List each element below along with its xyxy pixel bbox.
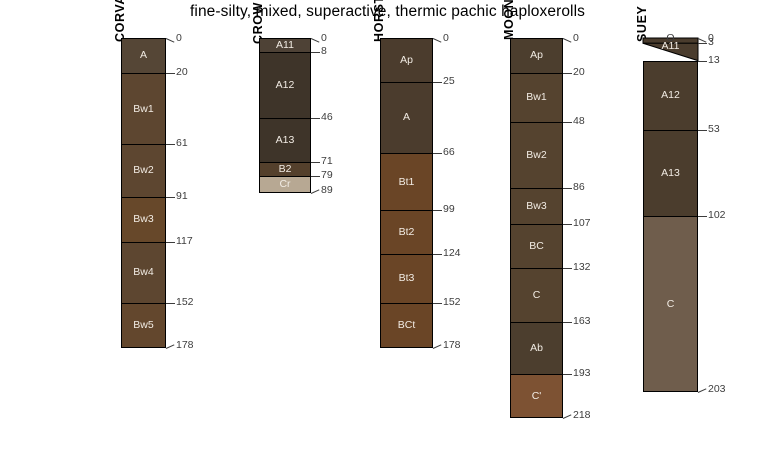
depth-label: 0 xyxy=(176,32,182,44)
horizon-horst-bt1: Bt1 xyxy=(380,153,433,210)
horizon-moonbend-c: C xyxy=(510,268,563,322)
horizon-label: BC xyxy=(511,240,562,252)
horizon-suey-wedge xyxy=(642,37,699,62)
depth-label: 178 xyxy=(176,339,194,351)
horizon-horst-bt2: Bt2 xyxy=(380,210,433,254)
depth-tick xyxy=(698,38,707,43)
depth-label: 193 xyxy=(573,367,591,379)
profile-name-label: HORST xyxy=(372,0,386,42)
horizon-corval-bw4: Bw4 xyxy=(121,242,166,303)
depth-tick xyxy=(311,162,320,163)
horizon-label: C xyxy=(511,289,562,301)
depth-label: 91 xyxy=(176,190,188,202)
depth-tick xyxy=(563,224,572,225)
depth-label: 218 xyxy=(573,409,591,421)
horizon-horst-bct: BCt xyxy=(380,303,433,348)
depth-label: 79 xyxy=(321,169,333,181)
depth-label: 132 xyxy=(573,261,591,273)
depth-label: 152 xyxy=(176,296,194,308)
depth-tick xyxy=(166,144,175,145)
depth-label: 25 xyxy=(443,75,455,87)
horizon-corval-bw2: Bw2 xyxy=(121,144,166,196)
profile-name-label: MOONBEND xyxy=(502,0,516,40)
horizon-label: A xyxy=(381,111,432,123)
depth-tick xyxy=(698,130,707,131)
depth-label: 3 xyxy=(708,36,714,48)
horizon-corval-bw3: Bw3 xyxy=(121,197,166,242)
horizon-horst-a: A xyxy=(380,82,433,153)
horizon-label: Bw5 xyxy=(122,319,165,331)
horizon-label: Ap xyxy=(511,49,562,61)
depth-tick xyxy=(563,73,572,74)
depth-label: 20 xyxy=(573,66,585,78)
horizon-label: Ab xyxy=(511,342,562,354)
horizon-label: A12 xyxy=(644,89,697,101)
depth-tick xyxy=(433,344,442,349)
depth-tick xyxy=(166,344,175,349)
horizon-suey-a13: A13 xyxy=(643,130,698,215)
horizon-label: A12 xyxy=(260,79,310,91)
horizon-label: Bw2 xyxy=(511,149,562,161)
depth-tick xyxy=(311,189,320,194)
horizon-label: Bw1 xyxy=(122,103,165,115)
depth-tick xyxy=(433,303,442,304)
horizon-label: Bt3 xyxy=(381,272,432,284)
depth-tick xyxy=(166,303,175,304)
horizon-horst-ap: Ap xyxy=(380,38,433,82)
horizon-label: A13 xyxy=(260,134,310,146)
horizon-corval-bw1: Bw1 xyxy=(121,73,166,144)
horizon-suey-a12: A12 xyxy=(643,61,698,131)
depth-tick xyxy=(433,82,442,83)
horizon-label: C' xyxy=(511,390,562,402)
horizon-label: C xyxy=(644,298,697,310)
depth-tick xyxy=(563,414,572,419)
depth-tick xyxy=(311,176,320,177)
depth-label: 61 xyxy=(176,137,188,149)
depth-tick xyxy=(433,153,442,154)
horizon-label: Bw3 xyxy=(122,213,165,225)
depth-tick xyxy=(166,73,175,74)
depth-label: 48 xyxy=(573,115,585,127)
horizon-label: Bt1 xyxy=(381,176,432,188)
depth-label: 86 xyxy=(573,181,585,193)
horizon-label: Cr xyxy=(260,178,310,190)
horizon-suey-c: C xyxy=(643,216,698,392)
depth-label: 124 xyxy=(443,247,461,259)
horizon-moonbend-bw1: Bw1 xyxy=(510,73,563,122)
depth-tick xyxy=(563,122,572,123)
depth-tick xyxy=(166,197,175,198)
depth-label: 66 xyxy=(443,146,455,158)
depth-tick xyxy=(433,254,442,255)
depth-label: 71 xyxy=(321,155,333,167)
horizon-crow-hill-a13: A13 xyxy=(259,118,311,162)
horizon-label: Bw4 xyxy=(122,266,165,278)
horizon-moonbend-bw3: Bw3 xyxy=(510,188,563,225)
depth-label: 0 xyxy=(443,32,449,44)
soil-profile-figure: fine-silty, mixed, superactive, thermic … xyxy=(0,0,775,450)
depth-tick xyxy=(433,210,442,211)
depth-label: 20 xyxy=(176,66,188,78)
horizon-moonbend-bw2: Bw2 xyxy=(510,122,563,188)
depth-tick xyxy=(311,118,320,119)
depth-label: 99 xyxy=(443,203,455,215)
depth-label: 107 xyxy=(573,217,591,229)
depth-label: 117 xyxy=(176,235,193,247)
depth-label: 0 xyxy=(321,32,327,44)
horizon-label: Bw2 xyxy=(122,164,165,176)
profile-name-label: CORVAL xyxy=(113,0,127,42)
horizon-crow-hill-cr: Cr xyxy=(259,176,311,193)
depth-tick xyxy=(166,38,175,43)
horizon-label: B2 xyxy=(260,163,310,175)
depth-tick xyxy=(563,374,572,375)
depth-label: 13 xyxy=(708,54,720,66)
horizon-crow-hill-a12: A12 xyxy=(259,52,311,118)
horizon-horst-bt3: Bt3 xyxy=(380,254,433,303)
horizon-crow-hill-b2: B2 xyxy=(259,162,311,176)
depth-tick xyxy=(563,38,572,43)
depth-tick xyxy=(166,242,175,243)
horizon-crow-hill-a11: A11 xyxy=(259,38,311,52)
depth-tick xyxy=(698,388,707,393)
depth-label: 163 xyxy=(573,315,591,327)
horizon-moonbend-ap: Ap xyxy=(510,38,563,73)
depth-tick xyxy=(563,268,572,269)
depth-tick xyxy=(698,216,707,217)
depth-label: 89 xyxy=(321,184,333,196)
horizon-label: Bt2 xyxy=(381,226,432,238)
depth-label: 0 xyxy=(573,32,579,44)
depth-tick xyxy=(563,322,572,323)
depth-tick xyxy=(698,61,707,62)
horizon-label: Ap xyxy=(381,54,432,66)
horizon-label: BCt xyxy=(381,319,432,331)
depth-label: 46 xyxy=(321,111,333,123)
depth-tick xyxy=(563,188,572,189)
horizon-moonbend-c: C' xyxy=(510,374,563,418)
horizon-label: Bw3 xyxy=(511,200,562,212)
depth-tick xyxy=(698,43,707,44)
horizon-corval-bw5: Bw5 xyxy=(121,303,166,348)
horizon-label: A13 xyxy=(644,167,697,179)
horizon-corval-a: A xyxy=(121,38,166,73)
depth-tick xyxy=(311,52,320,53)
depth-label: 8 xyxy=(321,45,327,57)
horizon-label: A11 xyxy=(260,39,310,51)
depth-label: 178 xyxy=(443,339,461,351)
horizon-label: A xyxy=(122,49,165,61)
depth-label: 152 xyxy=(443,296,461,308)
depth-label: 53 xyxy=(708,123,720,135)
horizon-moonbend-ab: Ab xyxy=(510,322,563,374)
depth-tick xyxy=(311,38,320,43)
depth-label: 203 xyxy=(708,383,726,395)
horizon-moonbend-bc: BC xyxy=(510,224,563,268)
horizon-label: Bw1 xyxy=(511,91,562,103)
depth-label: 102 xyxy=(708,209,726,221)
depth-tick xyxy=(433,38,442,43)
